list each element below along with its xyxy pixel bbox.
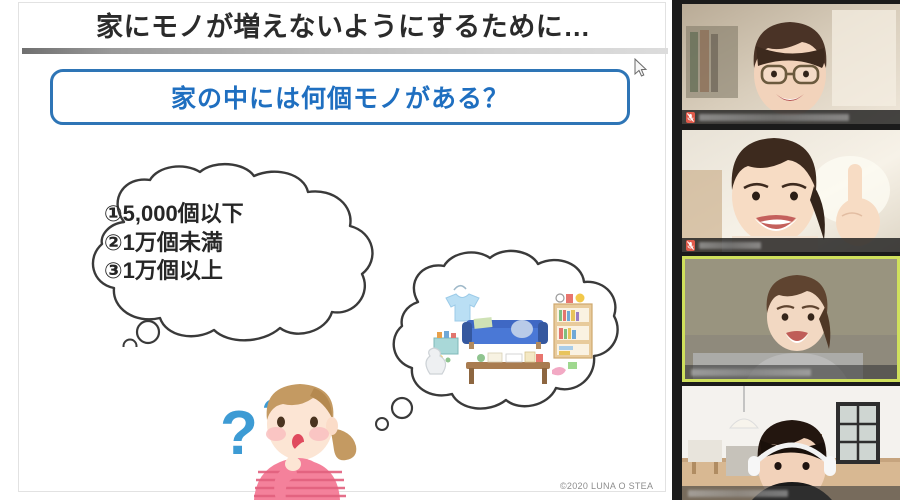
- participant-name-2: [699, 242, 761, 249]
- options-list: ①5,000個以下 ②1万個未満 ③1万個以上: [104, 200, 354, 286]
- participant-name-bar-2: [682, 238, 900, 252]
- participant-name-bar-1: [682, 110, 900, 124]
- screen-share-view: 家にモノが増えないようにするために… 家の中には何個モノがある？ ①5,000個…: [0, 0, 900, 500]
- participant-video-1: [682, 4, 900, 124]
- participant-tile-2[interactable]: [682, 130, 900, 252]
- participant-tile-3[interactable]: [682, 256, 900, 382]
- participant-name-4: [688, 490, 788, 497]
- option-item-2: ②1万個未満: [104, 229, 354, 258]
- participant-tile-4[interactable]: [682, 386, 900, 500]
- question-text: 家の中には何個モノがある？: [53, 72, 627, 122]
- participant-tile-1[interactable]: [682, 4, 900, 124]
- participant-name-1: [699, 114, 849, 121]
- room-thought-bubble: [368, 246, 623, 436]
- question-box: 家の中には何個モノがある？: [50, 69, 630, 125]
- option-item-3: ③1万個以上: [104, 257, 354, 286]
- participant-video-panel: [672, 0, 900, 500]
- participant-video-2: [682, 130, 900, 252]
- participant-name-bar-4: [682, 486, 900, 500]
- title-divider: [22, 48, 668, 54]
- copyright-notice: ©2020 LUNA O STEA: [560, 481, 653, 491]
- option-item-1: ①5,000個以下: [104, 200, 354, 229]
- mouse-cursor: [634, 58, 648, 78]
- shared-slide: 家にモノが増えないようにするために… 家の中には何個モノがある？ ①5,000個…: [0, 0, 672, 500]
- page-title: 家にモノが増えないようにするために…: [96, 9, 596, 45]
- participant-name-3: [691, 369, 811, 376]
- participant-name-bar-3: [685, 365, 897, 379]
- participant-video-3: [685, 259, 897, 379]
- mic-muted-icon: [686, 240, 695, 251]
- participant-video-4: [682, 386, 900, 500]
- thinking-person-illustration: [218, 372, 388, 500]
- options-thought-bubble: ①5,000個以下 ②1万個未満 ③1万個以上: [62, 162, 392, 347]
- room-cloud-shape: [368, 246, 623, 436]
- mic-muted-icon: [686, 112, 695, 123]
